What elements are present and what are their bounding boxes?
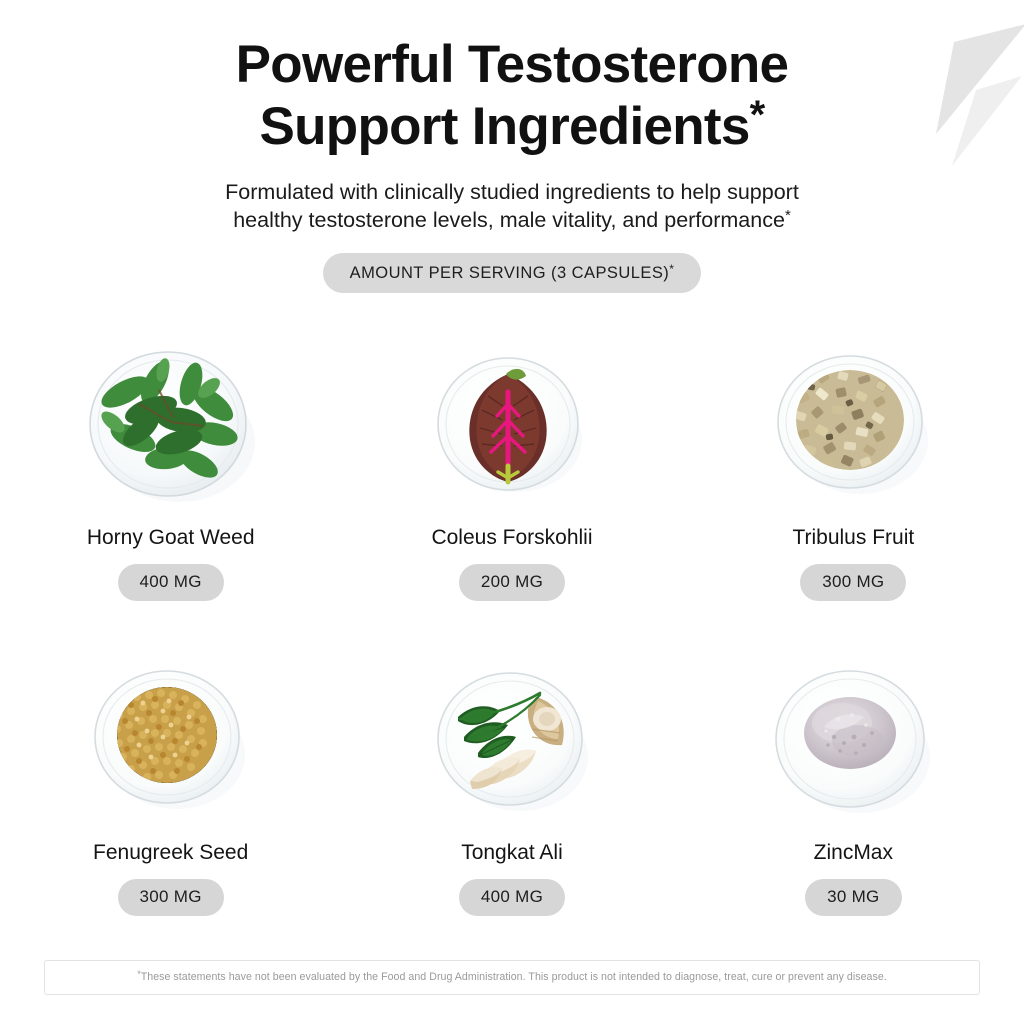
page-subtitle: Formulated with clinically studied ingre…: [0, 178, 1024, 235]
tongkat-ali-petri-dish: [404, 645, 619, 835]
ingredient-name: Tongkat Ali: [461, 841, 563, 865]
coleus-forskohlii-petri-dish: [404, 330, 619, 520]
ingredient-card: Horny Goat Weed 400 MG: [0, 330, 341, 601]
page-title-line-1: Powerful Testosterone: [236, 35, 789, 94]
page-subtitle-line-1: Formulated with clinically studied ingre…: [225, 180, 799, 204]
infographic-page: Powerful Testosterone Support Ingredient…: [0, 0, 1024, 1024]
page-title-line-2: Support Ingredients: [259, 97, 749, 156]
ingredient-dose-badge: 300 MG: [800, 564, 906, 601]
ingredient-dose-badge: 30 MG: [805, 879, 902, 916]
ingredient-name: Coleus Forskohlii: [431, 526, 592, 550]
amount-per-serving-asterisk: *: [669, 262, 674, 276]
page-subtitle-asterisk: *: [785, 207, 791, 224]
fenugreek-seed-petri-dish: [63, 645, 278, 835]
disclaimer-body: These statements have not been evaluated…: [141, 971, 887, 983]
disclaimer-text: *These statements have not been evaluate…: [55, 969, 969, 985]
tribulus-fruit-petri-dish: [746, 330, 961, 520]
ingredient-card: Coleus Forskohlii 200 MG: [341, 330, 682, 601]
ingredient-card: ZincMax 30 MG: [683, 645, 1024, 916]
page-title-asterisk: *: [750, 93, 765, 137]
page-subtitle-line-2: healthy testosterone levels, male vitali…: [233, 208, 785, 232]
ingredient-dose-badge: 200 MG: [459, 564, 565, 601]
zincmax-petri-dish: [746, 645, 961, 835]
amount-per-serving-badge: AMOUNT PER SERVING (3 CAPSULES)*: [323, 253, 702, 293]
page-title: Powerful Testosterone Support Ingredient…: [0, 36, 1024, 156]
ingredient-name: Tribulus Fruit: [792, 526, 914, 550]
amount-per-serving-label: AMOUNT PER SERVING (3 CAPSULES): [350, 264, 670, 282]
ingredient-dose-badge: 400 MG: [459, 879, 565, 916]
ingredient-name: Fenugreek Seed: [93, 841, 248, 865]
ingredient-name: ZincMax: [814, 841, 893, 865]
ingredient-grid: Horny Goat Weed 400 MG: [0, 330, 1024, 916]
ingredient-dose-badge: 400 MG: [118, 564, 224, 601]
ingredient-dose-badge: 300 MG: [118, 879, 224, 916]
ingredient-card: Fenugreek Seed 300 MG: [0, 645, 341, 916]
ingredient-card: Tongkat Ali 400 MG: [341, 645, 682, 916]
header: Powerful Testosterone Support Ingredient…: [0, 0, 1024, 293]
disclaimer-box: *These statements have not been evaluate…: [44, 960, 980, 995]
horny-goat-weed-petri-dish: [63, 330, 278, 520]
ingredient-name: Horny Goat Weed: [87, 526, 255, 550]
ingredient-card: Tribulus Fruit 300 MG: [683, 330, 1024, 601]
serving-badge-row: AMOUNT PER SERVING (3 CAPSULES)*: [0, 253, 1024, 293]
